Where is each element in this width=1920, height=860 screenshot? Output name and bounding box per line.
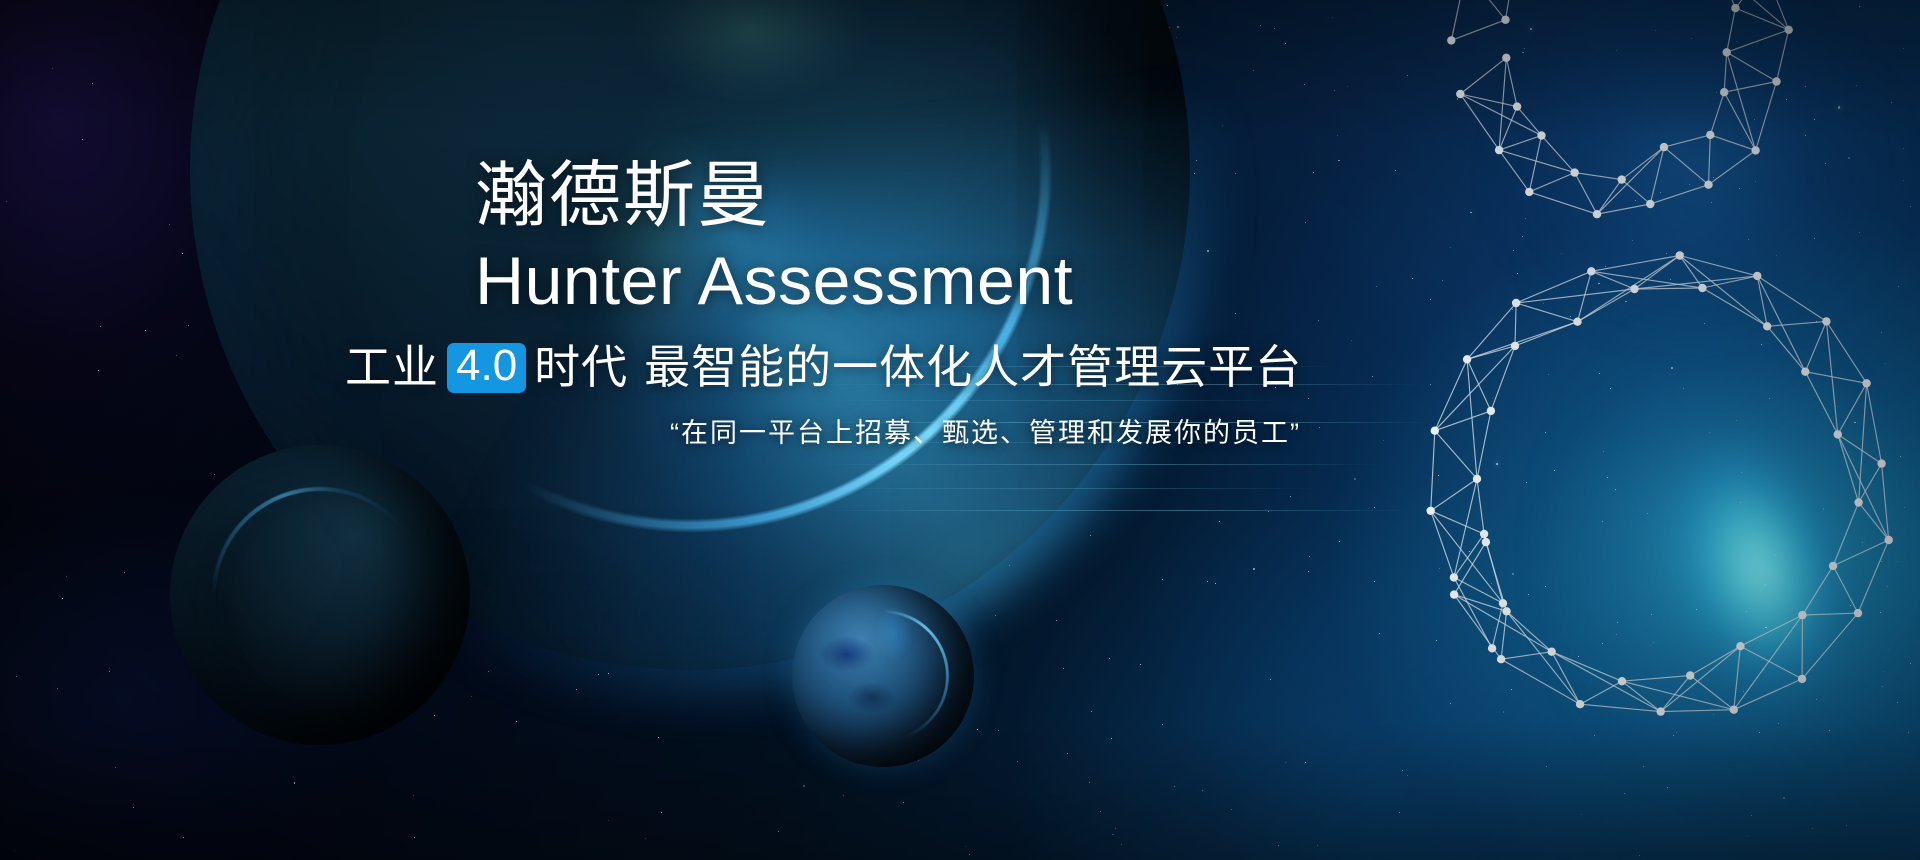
hero-subtitle: “在同一平台上招募、甄选、管理和发展你的员工”: [670, 415, 1475, 453]
tagline-part3: 最智能的一体化人才管理云平台: [644, 339, 1302, 397]
hero-copy: 瀚德斯曼 Hunter Assessment 工业 4.0 时代 最智能的一体化…: [475, 160, 1475, 453]
dark-planet-icon: [170, 445, 470, 745]
industry-version-badge: 4.0: [447, 343, 526, 393]
brand-name-cn: 瀚德斯曼: [475, 160, 1475, 232]
nebula-veil: [1480, 250, 1920, 860]
moon-rim-highlight: [791, 584, 975, 768]
tagline: 工业 4.0 时代 最智能的一体化人才管理云平台: [345, 339, 1475, 397]
tagline-part2: 时代: [534, 339, 628, 397]
dark-planet-rim: [169, 444, 471, 746]
tagline-part1: 工业: [345, 339, 439, 397]
moon-icon: [792, 585, 974, 767]
hero-banner: 瀚德斯曼 Hunter Assessment 工业 4.0 时代 最智能的一体化…: [0, 0, 1920, 860]
brand-name-en: Hunter Assessment: [475, 246, 1475, 317]
